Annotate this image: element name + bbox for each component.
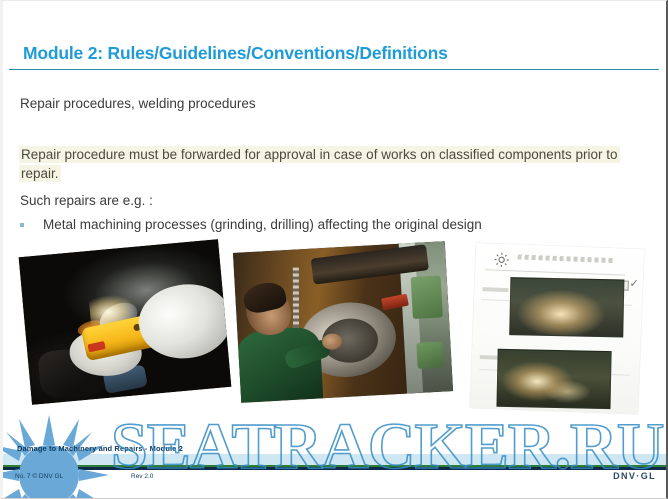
highlighted-paragraph: Repair procedure must be forwarded for a… <box>19 145 619 183</box>
machinery-photo-worker-body <box>233 326 323 402</box>
footer-page-number: No. 7 © DNV GL <box>15 473 63 480</box>
machinery-photo <box>233 241 453 403</box>
check-icon: ✓ <box>629 279 639 290</box>
gear-icon <box>493 252 510 269</box>
footer-title: Damage to Machinery and Repairs - Module… <box>17 444 183 453</box>
machinery-photo-green-panel-2 <box>416 341 443 368</box>
bullet-dot-icon <box>20 223 24 227</box>
title-divider <box>9 69 659 70</box>
footer-band-navy <box>3 467 667 470</box>
bullet-list-item: Metal machining processes (grinding, dri… <box>20 215 482 234</box>
report-photo-thumbnail-2 <box>496 349 611 409</box>
dnv-gl-logo: DNV·GL <box>613 471 656 481</box>
slide-canvas: Module 2: Rules/Guidelines/Conventions/D… <box>0 0 668 499</box>
report-photo: ✓ <box>470 243 644 414</box>
page-title: Module 2: Rules/Guidelines/Conventions/D… <box>23 43 448 64</box>
report-photo-thumbnail-1 <box>509 277 624 337</box>
intro-paragraph: Repair procedures, welding procedures <box>20 94 256 113</box>
machinery-photo-green-panel <box>411 275 443 319</box>
grinding-photo <box>19 239 232 405</box>
footer-revision: Rev 2.0 <box>131 473 153 480</box>
highlight-text: Repair procedure must be forwarded for a… <box>19 146 620 182</box>
such-repairs-label: Such repairs are e.g. : <box>20 191 153 210</box>
watermark-text: SEATRACKER.RU <box>111 409 663 485</box>
bullet-item-label: Metal machining processes (grinding, dri… <box>43 215 482 234</box>
footer-band-light <box>3 454 667 465</box>
